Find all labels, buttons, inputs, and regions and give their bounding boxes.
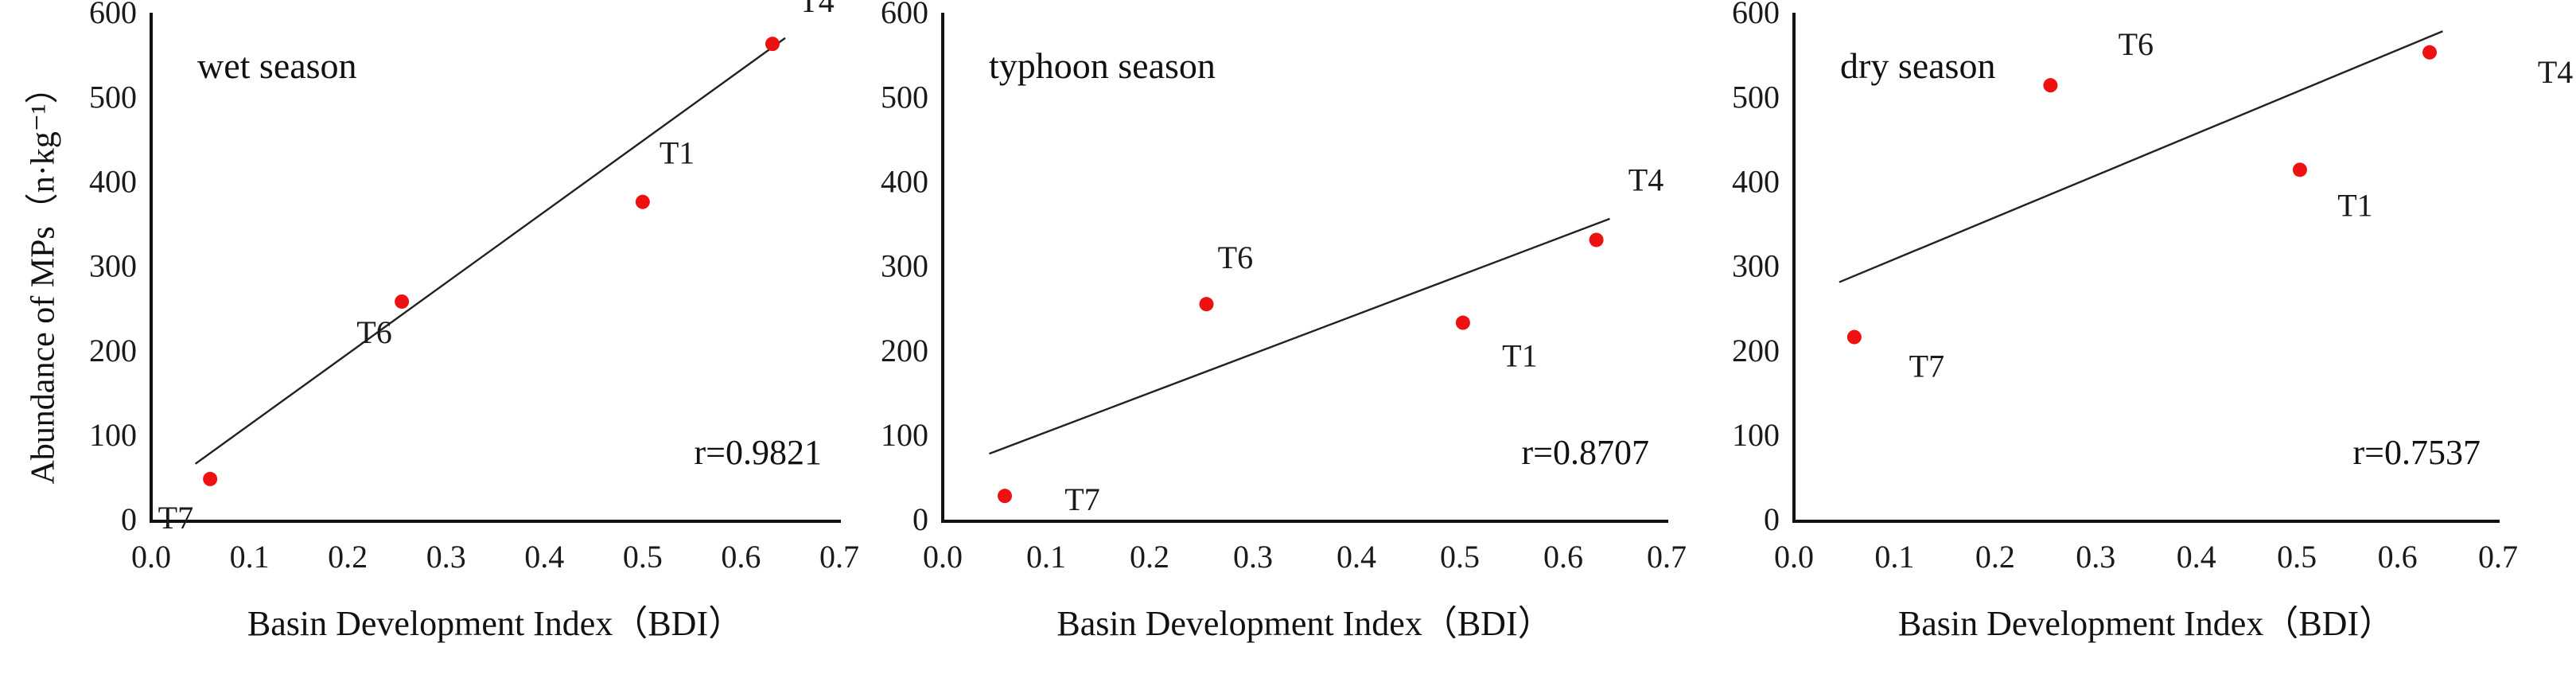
y-tick-label: 0 — [1764, 501, 1780, 537]
season-title: wet season — [197, 45, 357, 86]
x-tick-label: 0.1 — [1874, 539, 1914, 575]
y-tick-label: 300 — [1732, 248, 1780, 284]
data-point — [998, 489, 1012, 503]
x-tick-label: 0.0 — [131, 539, 171, 575]
data-point-label: T4 — [2538, 54, 2573, 90]
x-tick-label: 0.6 — [721, 539, 761, 575]
y-tick-label: 200 — [881, 333, 928, 368]
data-point — [2422, 45, 2437, 60]
data-point-label: T1 — [2337, 187, 2372, 223]
x-tick-label: 0.2 — [328, 539, 368, 575]
y-tick-label: 100 — [89, 417, 137, 453]
x-axis-title: Basin Development Index（BDI） — [1898, 604, 2394, 643]
x-tick-label: 0.4 — [524, 539, 564, 575]
x-tick-label: 0.1 — [230, 539, 270, 575]
x-tick-label: 0.4 — [1337, 539, 1376, 575]
correlation-annotation: r=0.8707 — [1522, 433, 1649, 472]
correlation-annotation: r=0.7537 — [2353, 433, 2481, 472]
data-point — [2043, 78, 2057, 92]
data-point-label: T6 — [1218, 240, 1253, 275]
x-tick-label: 0.1 — [1026, 539, 1066, 575]
regression-line — [196, 38, 785, 464]
x-tick-label: 0.0 — [923, 539, 963, 575]
data-point-label: T1 — [660, 135, 695, 171]
x-tick-label: 0.6 — [1543, 539, 1583, 575]
y-tick-label: 600 — [881, 0, 928, 30]
x-tick-label: 0.3 — [426, 539, 466, 575]
y-tick-label: 100 — [881, 417, 928, 453]
data-point-label: T6 — [356, 314, 391, 350]
x-tick-label: 0.6 — [2378, 539, 2418, 575]
y-tick-label: 400 — [881, 164, 928, 200]
data-point-label: T1 — [1502, 338, 1537, 374]
y-tick-label: 100 — [1732, 417, 1780, 453]
scatter-plot-1: 01002003004005006000.00.10.20.30.40.50.6… — [0, 0, 867, 686]
data-point — [203, 472, 217, 486]
data-point — [1456, 316, 1470, 330]
y-tick-label: 500 — [89, 79, 137, 115]
data-point — [1200, 297, 1214, 311]
data-point — [395, 294, 409, 309]
y-tick-label: 600 — [1732, 0, 1780, 30]
x-tick-label: 0.2 — [1130, 539, 1169, 575]
y-tick-label: 200 — [89, 333, 137, 368]
y-tick-label: 300 — [89, 248, 137, 284]
x-tick-label: 0.5 — [623, 539, 663, 575]
y-tick-label: 300 — [881, 248, 928, 284]
data-point — [2293, 162, 2307, 177]
data-point-label: T7 — [1064, 481, 1099, 517]
chart-panel-3: 01002003004005006000.00.10.20.30.40.50.6… — [1714, 0, 2576, 686]
y-tick-label: 600 — [89, 0, 137, 30]
x-tick-label: 0.3 — [1233, 539, 1273, 575]
regression-line — [990, 219, 1610, 454]
chart-panel-2: 01002003004005006000.00.10.20.30.40.50.6… — [867, 0, 1714, 686]
x-tick-label: 0.4 — [2177, 539, 2216, 575]
figure-container: Abundance of MPs（n·kg⁻¹）0100200300400500… — [0, 0, 2576, 686]
x-axis-title: Basin Development Index（BDI） — [247, 604, 743, 643]
y-tick-label: 500 — [1732, 79, 1780, 115]
data-point — [636, 195, 650, 209]
x-axis-title: Basin Development Index（BDI） — [1056, 604, 1552, 643]
x-tick-label: 0.7 — [2478, 539, 2518, 575]
data-point-label: T4 — [1628, 162, 1664, 197]
x-tick-label: 0.2 — [1975, 539, 2015, 575]
y-tick-label: 400 — [1732, 164, 1780, 200]
data-point-label: T6 — [2119, 26, 2154, 62]
chart-panel-1: 01002003004005006000.00.10.20.30.40.50.6… — [0, 0, 867, 686]
x-tick-label: 0.5 — [1440, 539, 1480, 575]
scatter-plot-3: 01002003004005006000.00.10.20.30.40.50.6… — [1714, 0, 2576, 686]
season-title: dry season — [1840, 45, 1995, 86]
y-tick-label: 0 — [121, 501, 137, 537]
y-tick-label: 400 — [89, 164, 137, 200]
x-tick-label: 0.3 — [2076, 539, 2115, 575]
data-point — [1847, 330, 1862, 345]
data-point — [1590, 232, 1604, 247]
data-point-label: T7 — [158, 500, 193, 536]
data-point-label: T7 — [1909, 349, 1944, 384]
y-tick-label: 500 — [881, 79, 928, 115]
x-tick-label: 0.5 — [2277, 539, 2317, 575]
x-tick-label: 0.7 — [1647, 539, 1687, 575]
x-tick-label: 0.0 — [1774, 539, 1814, 575]
scatter-plot-2: 01002003004005006000.00.10.20.30.40.50.6… — [867, 0, 1714, 686]
x-tick-label: 0.7 — [819, 539, 859, 575]
correlation-annotation: r=0.9821 — [695, 433, 822, 472]
data-point-label: T4 — [799, 0, 834, 19]
y-tick-label: 0 — [912, 501, 928, 537]
y-tick-label: 200 — [1732, 333, 1780, 368]
season-title: typhoon season — [989, 45, 1216, 86]
data-point — [765, 37, 780, 51]
